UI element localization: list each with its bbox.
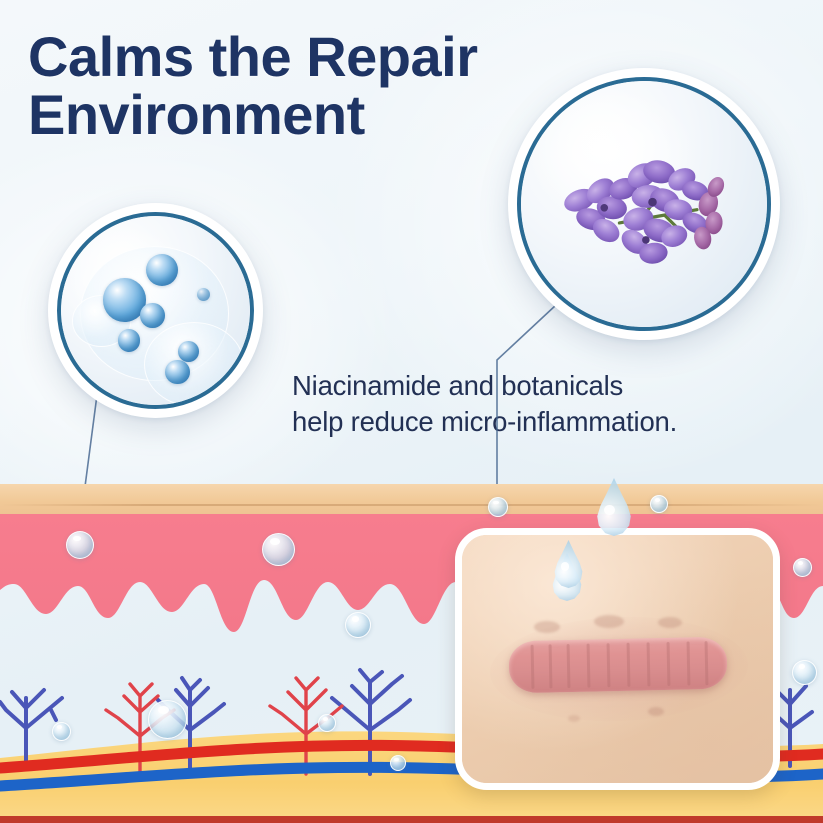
skin-layer-epidermis: [0, 484, 823, 516]
droplet-sphere: [650, 495, 668, 513]
circle-ring-border: [517, 77, 771, 331]
diagram-baseline: [0, 816, 823, 823]
infographic-root: Calms the Repair Environment Niacinamide…: [0, 0, 823, 823]
water-droplet-teardrop: [594, 478, 634, 536]
droplet-sphere: [792, 660, 817, 685]
droplet-sphere: [345, 612, 371, 638]
blue-molecule-spheres-icon: [61, 216, 250, 405]
epidermis-surface-line: [0, 504, 823, 506]
droplet-sphere: [318, 714, 336, 732]
droplet-in-dermis-center: [488, 497, 508, 517]
water-droplet-teardrop: [552, 540, 585, 588]
hypertrophic-scar-photo[interactable]: [455, 528, 780, 790]
molecule-serum-circle[interactable]: [48, 203, 263, 418]
circle-ring-border: [57, 212, 254, 409]
droplet-sphere: [793, 558, 812, 577]
raised-scar-icon: [508, 637, 727, 694]
droplet-sphere: [52, 722, 71, 741]
botanical-lilac-circle[interactable]: [508, 68, 780, 340]
droplet-in-dermis-left: [66, 531, 94, 559]
droplet-sphere: [390, 755, 406, 771]
droplet-sphere: [262, 533, 295, 566]
droplet-sphere: [148, 700, 187, 739]
purple-lilac-flowers-icon: [521, 81, 767, 327]
